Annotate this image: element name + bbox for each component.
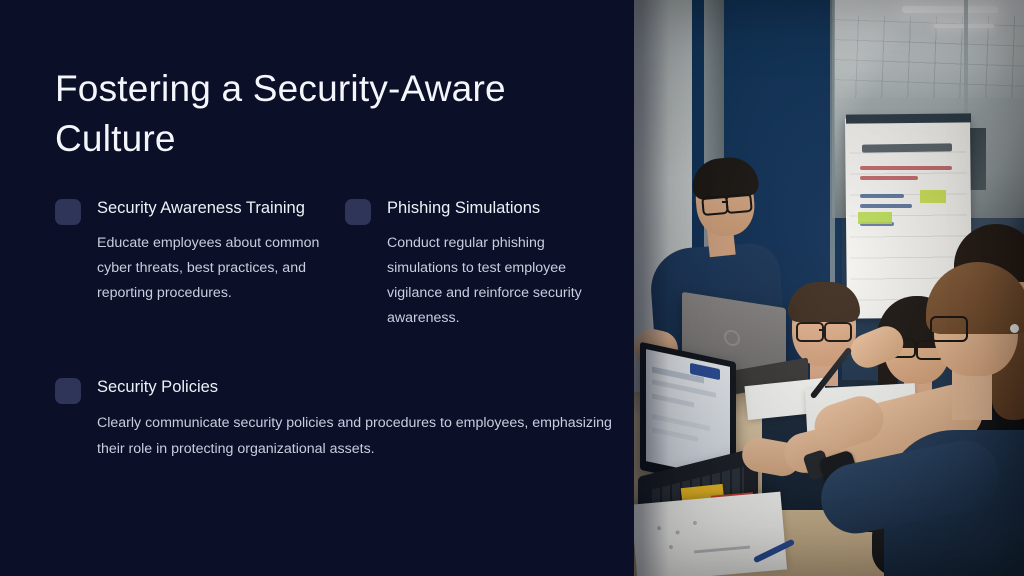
bullet-square-icon [55, 199, 81, 225]
feature-heading: Security Policies [97, 375, 615, 399]
eyeglasses-bridge [819, 329, 826, 331]
feature-block-security-awareness-training: Security Awareness Training Educate empl… [55, 196, 323, 306]
eyeglasses-icon [824, 322, 852, 342]
presentation-slide: Fostering a Security-Aware Culture Secur… [0, 0, 1024, 576]
feature-row-bottom: Security Policies Clearly communicate se… [55, 375, 615, 462]
flipchart-handwriting [860, 194, 904, 198]
eyeglasses-icon [725, 193, 753, 214]
feature-blocks: Security Awareness Training Educate empl… [55, 196, 615, 462]
feature-text: Clearly communicate security policies an… [97, 410, 615, 462]
feature-text: Conduct regular phishing simulations to … [387, 231, 613, 331]
feature-block-security-policies: Security Policies Clearly communicate se… [55, 375, 615, 462]
flipchart-handwriting [860, 176, 918, 180]
bullet-square-icon [55, 378, 81, 404]
feature-text: Educate employees about common cyber thr… [97, 231, 323, 306]
feature-heading: Security Awareness Training [97, 196, 323, 220]
feature-row-top: Security Awareness Training Educate empl… [55, 196, 615, 331]
slide-title: Fostering a Security-Aware Culture [55, 64, 575, 164]
feature-heading: Phishing Simulations [387, 196, 613, 220]
feature-block-phishing-simulations: Phishing Simulations Conduct regular phi… [345, 196, 613, 331]
feature-column-left: Security Awareness Training Educate empl… [55, 196, 323, 331]
earring-icon [1010, 324, 1019, 333]
bullet-square-icon [345, 199, 371, 225]
slide-content-panel: Fostering a Security-Aware Culture Secur… [0, 0, 634, 576]
man-seated-hair [788, 282, 860, 322]
eyeglasses-bridge [722, 201, 728, 203]
team-meeting-photo [634, 0, 1024, 576]
feature-column-right: Phishing Simulations Conduct regular phi… [345, 196, 613, 331]
flipchart-handwriting [860, 204, 912, 208]
flipchart-clamp [846, 113, 971, 123]
flipchart-handwriting [860, 166, 952, 170]
eyeglasses-icon [796, 322, 824, 342]
flipchart-highlight [858, 212, 892, 224]
eyeglasses-icon [930, 316, 968, 342]
flipchart-highlight [920, 190, 946, 203]
flipchart-handwriting-title [862, 143, 952, 152]
feature-column-full: Security Policies Clearly communicate se… [55, 375, 615, 462]
